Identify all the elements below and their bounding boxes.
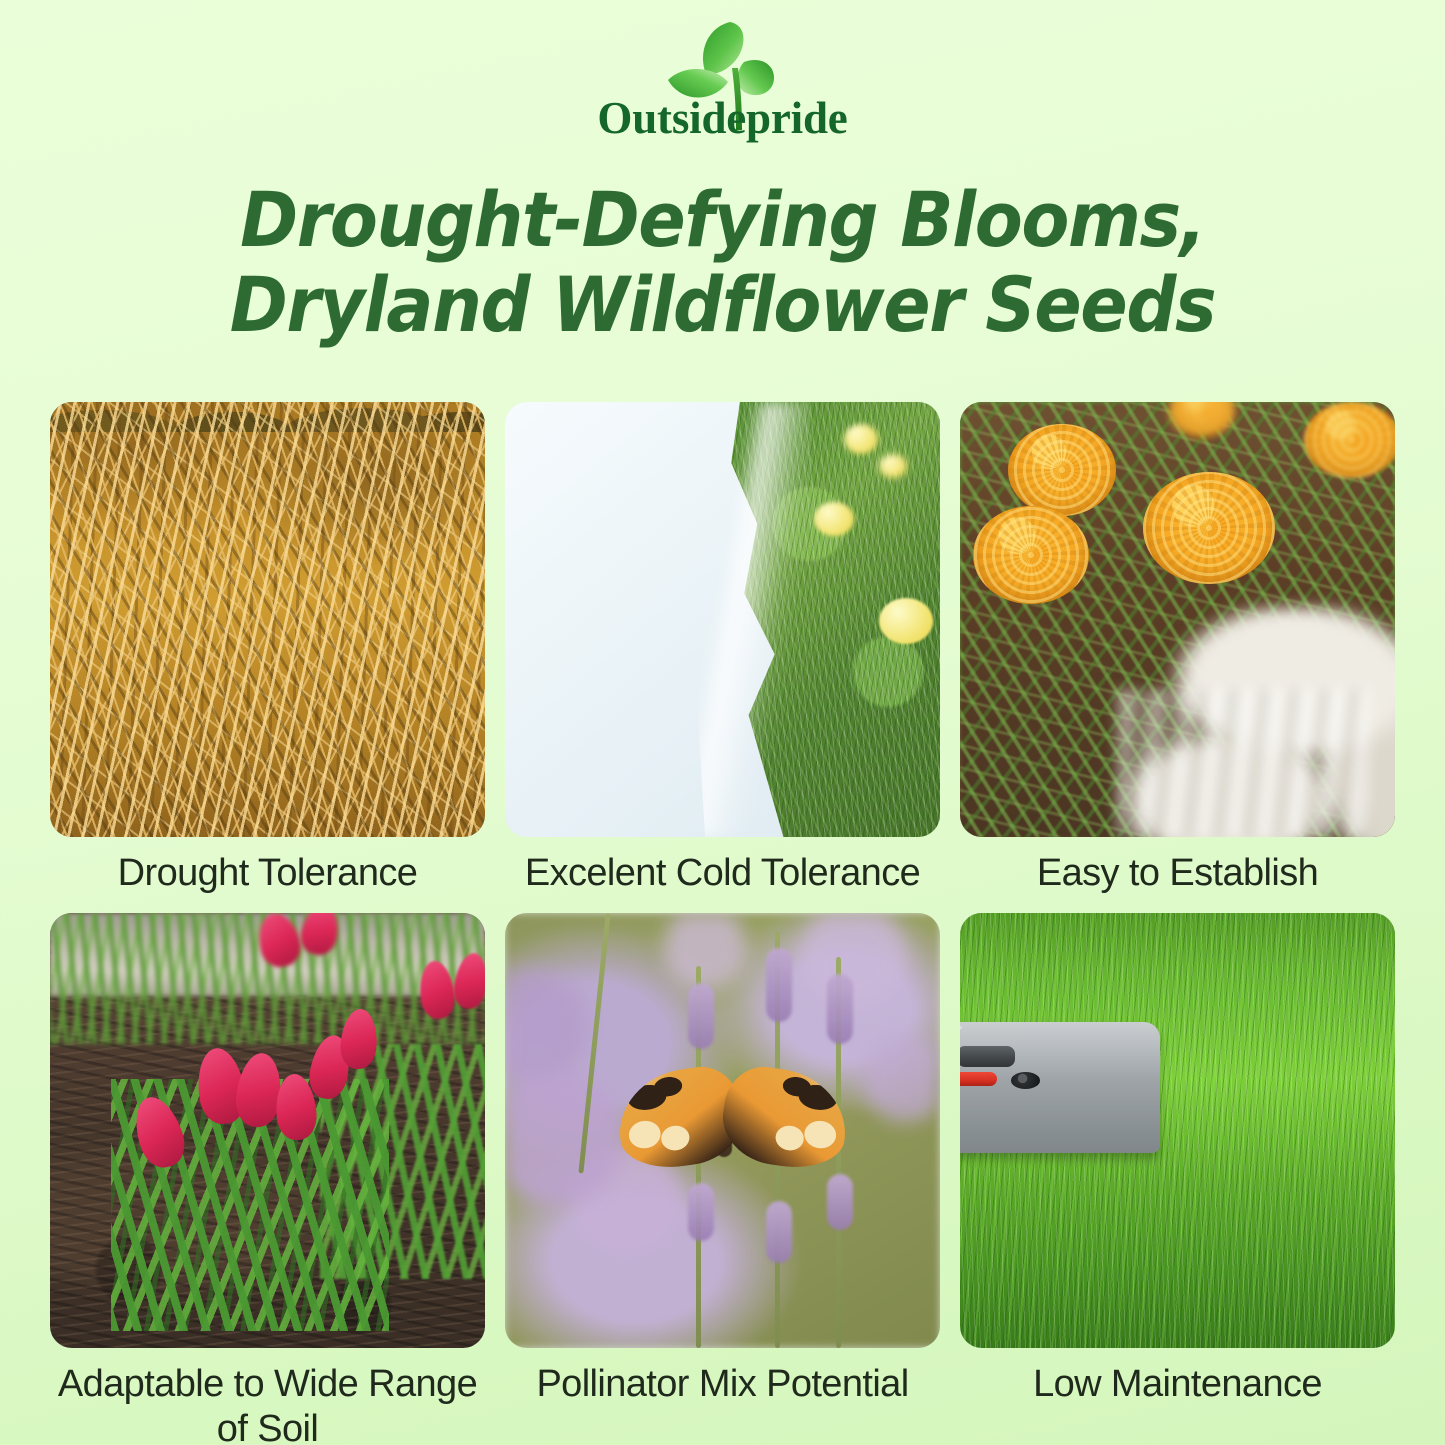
feature-cell-pollinator-mix: Pollinator Mix Potential [505,913,940,1445]
brand-wordmark: Outsidepride [597,96,847,141]
pollinator-mix-photo [505,913,940,1348]
feature-grid: Drought Tolerance Excelent Cold Toleranc… [50,402,1395,1445]
feature-cell-cold-tolerance: Excelent Cold Tolerance [505,402,940,895]
feature-caption: Drought Tolerance [50,851,485,895]
cold-tolerance-photo [505,402,940,837]
feature-cell-adaptable-soil: Adaptable to Wide Range of Soil [50,913,485,1445]
page-title: Drought-Defying Blooms, Dryland Wildflow… [58,177,1387,347]
infographic-page: { "brand": { "name": "Outsidepride", "lo… [0,0,1445,1445]
adaptable-soil-photo [50,913,485,1348]
feature-caption: Pollinator Mix Potential [505,1362,940,1406]
feature-cell-drought-tolerance: Drought Tolerance [50,402,485,895]
drought-tolerance-photo [50,402,485,837]
headline-line-2: Dryland Wildflower Seeds [230,260,1216,349]
feature-caption: Easy to Establish [960,851,1395,895]
low-maintenance-photo [960,913,1395,1348]
headline-line-1: Drought-Defying Blooms, [240,175,1205,264]
feature-cell-low-maintenance: Low Maintenance [960,913,1395,1445]
feature-caption: Excelent Cold Tolerance [505,851,940,895]
brand-header: Outsidepride [0,0,1445,141]
feature-cell-easy-to-establish: Easy to Establish [960,402,1395,895]
feature-caption: Low Maintenance [960,1362,1395,1406]
easy-to-establish-photo [960,402,1395,837]
feature-caption: Adaptable to Wide Range of Soil [50,1362,485,1445]
